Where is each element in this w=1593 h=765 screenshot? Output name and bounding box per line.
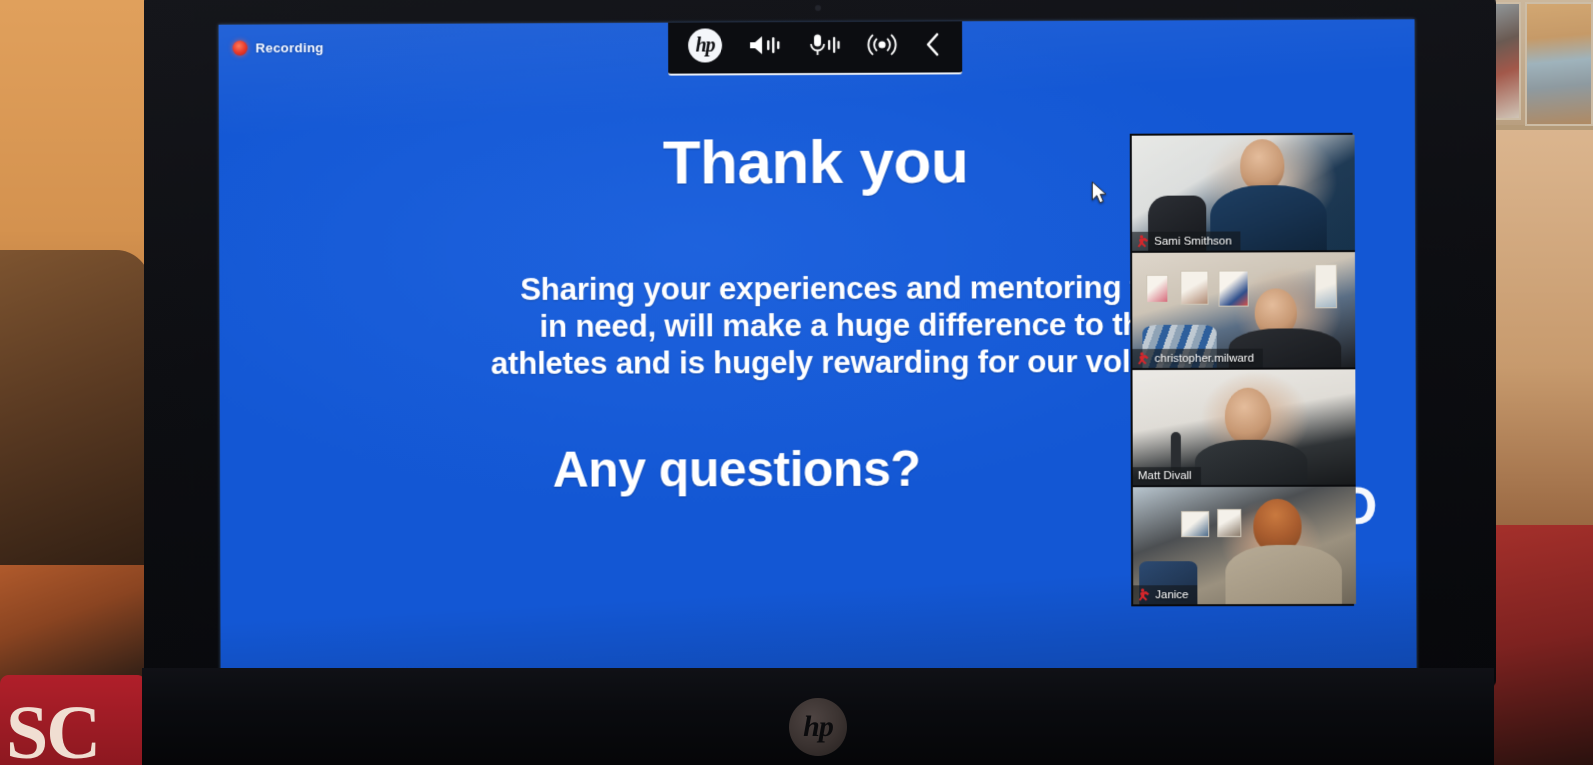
- judo-avatar-icon: [1137, 235, 1149, 248]
- recording-label: Recording: [255, 40, 323, 55]
- hp-logo-icon[interactable]: hp: [688, 28, 722, 62]
- chair-left: [0, 250, 150, 580]
- participant-name: Janice: [1155, 589, 1188, 601]
- participant-tile[interactable]: Sami Smithson: [1132, 135, 1355, 253]
- participant-name: christopher.milward: [1155, 352, 1254, 364]
- photo-scene: SC Recording hp: [0, 0, 1593, 765]
- slide-question-text: Any questions?: [220, 439, 1255, 500]
- microphone-icon[interactable]: [808, 33, 840, 57]
- red-package: SC: [0, 675, 146, 765]
- laptop-base: hp: [142, 668, 1494, 765]
- laptop-screen: Recording hp: [219, 19, 1417, 673]
- broadcast-record-icon[interactable]: [866, 33, 898, 57]
- package-text: SC: [6, 690, 99, 765]
- participant-name-badge: Matt Divall: [1133, 467, 1201, 485]
- participant-video-strip[interactable]: Sami Smithson christopher.mil: [1130, 133, 1354, 607]
- webcam-icon: [815, 5, 821, 11]
- framed-photo-landscape: [1525, 2, 1593, 126]
- judo-avatar-icon: [1137, 352, 1149, 365]
- chevron-left-icon[interactable]: [924, 31, 942, 57]
- record-dot-icon: [233, 41, 248, 56]
- hp-toolbar[interactable]: hp: [668, 19, 962, 75]
- judo-avatar-icon: [1138, 588, 1150, 601]
- recording-indicator: Recording: [233, 40, 324, 55]
- participant-tile[interactable]: christopher.milward: [1132, 252, 1355, 370]
- participant-tile[interactable]: Matt Divall: [1132, 369, 1355, 487]
- hp-logo-icon: hp: [789, 698, 847, 756]
- participant-name-badge: Sami Smithson: [1132, 231, 1241, 250]
- participant-name: Matt Divall: [1138, 470, 1192, 482]
- participant-name-badge: Janice: [1133, 585, 1198, 604]
- participant-name: Sami Smithson: [1154, 235, 1232, 247]
- participant-name-badge: christopher.milward: [1132, 349, 1263, 368]
- speaker-volume-icon[interactable]: [748, 34, 782, 56]
- laptop: Recording hp: [142, 0, 1494, 765]
- participant-tile[interactable]: Janice: [1133, 487, 1356, 605]
